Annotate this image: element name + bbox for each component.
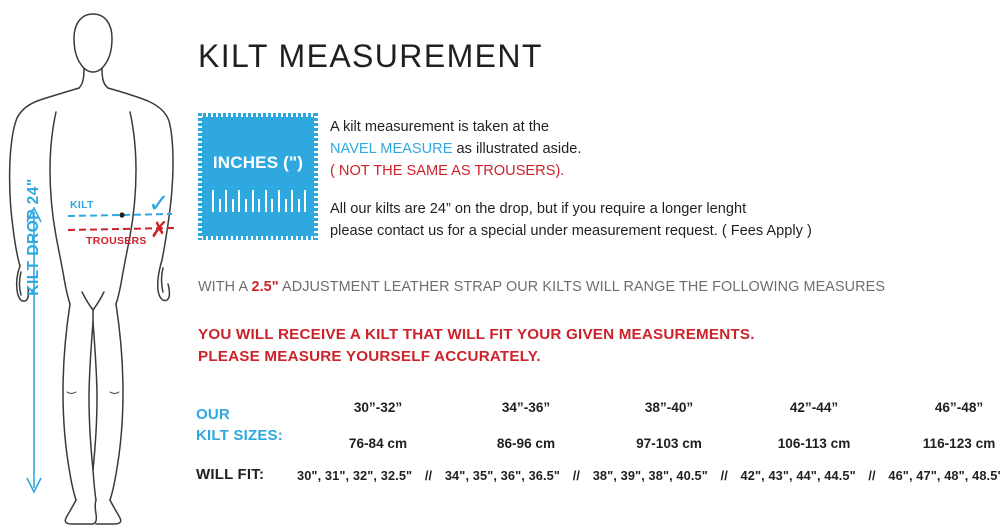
will-fit-separator: // <box>712 468 737 483</box>
ruler-tick <box>219 199 221 212</box>
will-fit-group-3: 38", 39", 38", 40.5" <box>593 468 708 483</box>
will-fit-separator: // <box>859 468 884 483</box>
check-icon: ✓ <box>148 190 170 216</box>
warning-line-2: PLEASE MEASURE YOURSELF ACCURATELY. <box>198 346 755 368</box>
inches-tape-box: INCHES (") <box>198 113 318 240</box>
ruler-tick <box>298 199 300 212</box>
ruler-tick <box>232 199 234 212</box>
size-column-5: 46”-48” 116-123 cm <box>884 400 1000 451</box>
size-column-2: 34”-36” 86-96 cm <box>451 400 601 451</box>
will-fit-group-2: 34", 35", 36", 36.5" <box>445 468 560 483</box>
ruler-tick <box>271 199 273 212</box>
size-cm: 86-96 cm <box>451 436 601 451</box>
ruler-tick <box>265 190 267 212</box>
our-kilt-sizes-line-1: OUR <box>196 404 283 425</box>
navel-paragraph: A kilt measurement is taken at the NAVEL… <box>330 116 581 183</box>
body-figure-illustration: KILT DROP 24" KILT TROUSERS ✓ ✗ <box>0 0 200 531</box>
accuracy-warning: YOU WILL RECEIVE A KILT THAT WILL FIT YO… <box>198 324 755 367</box>
navel-line-3: ( NOT THE SAME AS TROUSERS). <box>330 160 581 182</box>
our-kilt-sizes-line-2: KILT SIZES: <box>196 425 283 446</box>
tape-edge-bottom <box>198 236 318 240</box>
strap-line-after: ADJUSTMENT LEATHER STRAP OUR KILTS WILL … <box>279 279 885 295</box>
tape-edge-left <box>198 113 202 240</box>
ruler-tick <box>238 190 240 212</box>
tape-edge-top <box>198 113 318 117</box>
kilt-size-table: OUR KILT SIZES: 30”-32” 76-84 cm 34”-36”… <box>196 400 986 500</box>
ruler-tick <box>278 190 280 212</box>
size-column-4: 42”-44” 106-113 cm <box>739 400 889 451</box>
drop-line-2: please contact us for a special under me… <box>330 220 812 242</box>
size-inches: 38”-40” <box>594 400 744 415</box>
size-cm: 97-103 cm <box>594 436 744 451</box>
navel-measure-highlight: NAVEL MEASURE <box>330 141 452 157</box>
ruler-ticks-icon <box>211 186 305 212</box>
navel-line-2-rest: as illustrated aside. <box>452 141 581 157</box>
page-title: KILT MEASUREMENT <box>198 38 543 75</box>
will-fit-label: WILL FIT: <box>196 466 264 483</box>
trousers-line-label: TROUSERS <box>86 235 147 247</box>
warning-line-1: YOU WILL RECEIVE A KILT THAT WILL FIT YO… <box>198 324 755 346</box>
size-inches: 34”-36” <box>451 400 601 415</box>
tape-box-title: INCHES (") <box>198 153 318 173</box>
will-fit-values: 30", 31", 32", 32.5" // 34", 35", 36", 3… <box>297 468 1000 483</box>
drop-line-1: All our kilts are 24” on the drop, but i… <box>330 198 812 220</box>
navel-line-2: NAVEL MEASURE as illustrated aside. <box>330 138 581 160</box>
strap-line-before: WITH A <box>198 279 251 295</box>
cross-icon: ✗ <box>150 219 168 241</box>
will-fit-group-5: 46", 47", 48", 48.5" <box>888 468 1000 483</box>
ruler-tick <box>285 199 287 212</box>
will-fit-group-1: 30", 31", 32", 32.5" <box>297 468 412 483</box>
our-kilt-sizes-label: OUR KILT SIZES: <box>196 404 283 447</box>
ruler-tick <box>212 190 214 212</box>
ruler-tick <box>258 199 260 212</box>
drop-paragraph: All our kilts are 24” on the drop, but i… <box>330 198 812 242</box>
ruler-tick <box>225 190 227 212</box>
size-inches: 46”-48” <box>884 400 1000 415</box>
size-cm: 76-84 cm <box>303 436 453 451</box>
will-fit-group-4: 42", 43", 44", 44.5" <box>741 468 856 483</box>
navel-line-1: A kilt measurement is taken at the <box>330 116 581 138</box>
will-fit-separator: // <box>416 468 441 483</box>
ruler-tick <box>304 190 306 212</box>
size-inches: 42”-44” <box>739 400 889 415</box>
size-column-3: 38”-40” 97-103 cm <box>594 400 744 451</box>
strap-line-emphasis: 2.5" <box>251 279 278 295</box>
ruler-tick <box>252 190 254 212</box>
kilt-measurement-infographic: KILT DROP 24" KILT TROUSERS ✓ ✗ KILT MEA… <box>0 0 1000 531</box>
kilt-line-label: KILT <box>70 199 94 211</box>
size-inches: 30”-32” <box>303 400 453 415</box>
ruler-tick <box>245 199 247 212</box>
size-column-1: 30”-32” 76-84 cm <box>303 400 453 451</box>
adjustment-strap-line: WITH A 2.5" ADJUSTMENT LEATHER STRAP OUR… <box>198 279 885 295</box>
kilt-drop-label: KILT DROP 24" <box>25 157 43 317</box>
ruler-tick <box>291 190 293 212</box>
will-fit-separator: // <box>564 468 589 483</box>
size-cm: 116-123 cm <box>884 436 1000 451</box>
tape-edge-right <box>314 113 318 240</box>
size-cm: 106-113 cm <box>739 436 889 451</box>
